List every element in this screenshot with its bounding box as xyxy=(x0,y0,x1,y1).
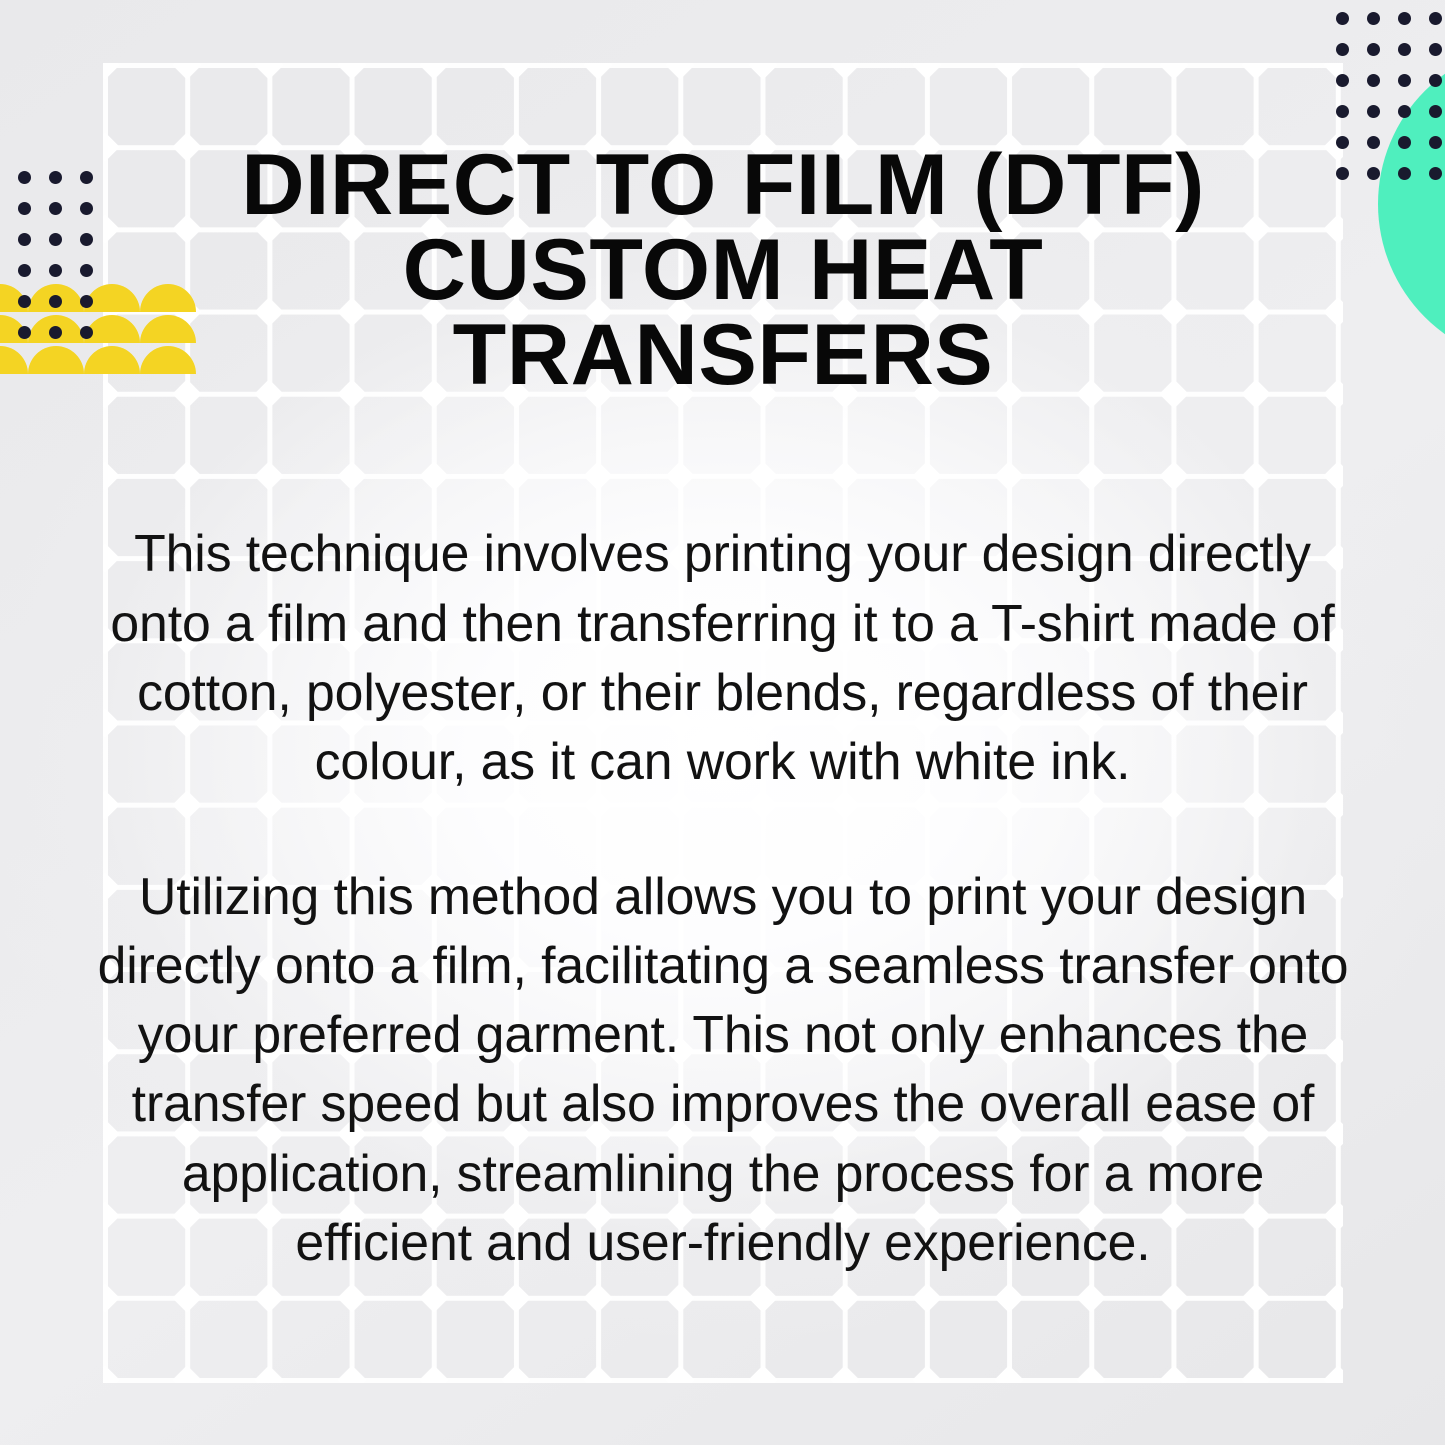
paragraph-2: Utilizing this method allows you to prin… xyxy=(92,863,1354,1278)
poster-canvas: DIRECT TO FILM (DTF) CUSTOM HEAT TRANSFE… xyxy=(0,0,1445,1445)
title-line-2: CUSTOM HEAT TRANSFERS xyxy=(402,222,1043,403)
poster-content: DIRECT TO FILM (DTF) CUSTOM HEAT TRANSFE… xyxy=(0,0,1445,1445)
body-copy: This technique involves printing your de… xyxy=(89,520,1357,1278)
page-title: DIRECT TO FILM (DTF) CUSTOM HEAT TRANSFE… xyxy=(197,0,1248,398)
paragraph-1: This technique involves printing your de… xyxy=(103,520,1342,797)
title-line-1: DIRECT TO FILM (DTF) xyxy=(241,137,1205,233)
